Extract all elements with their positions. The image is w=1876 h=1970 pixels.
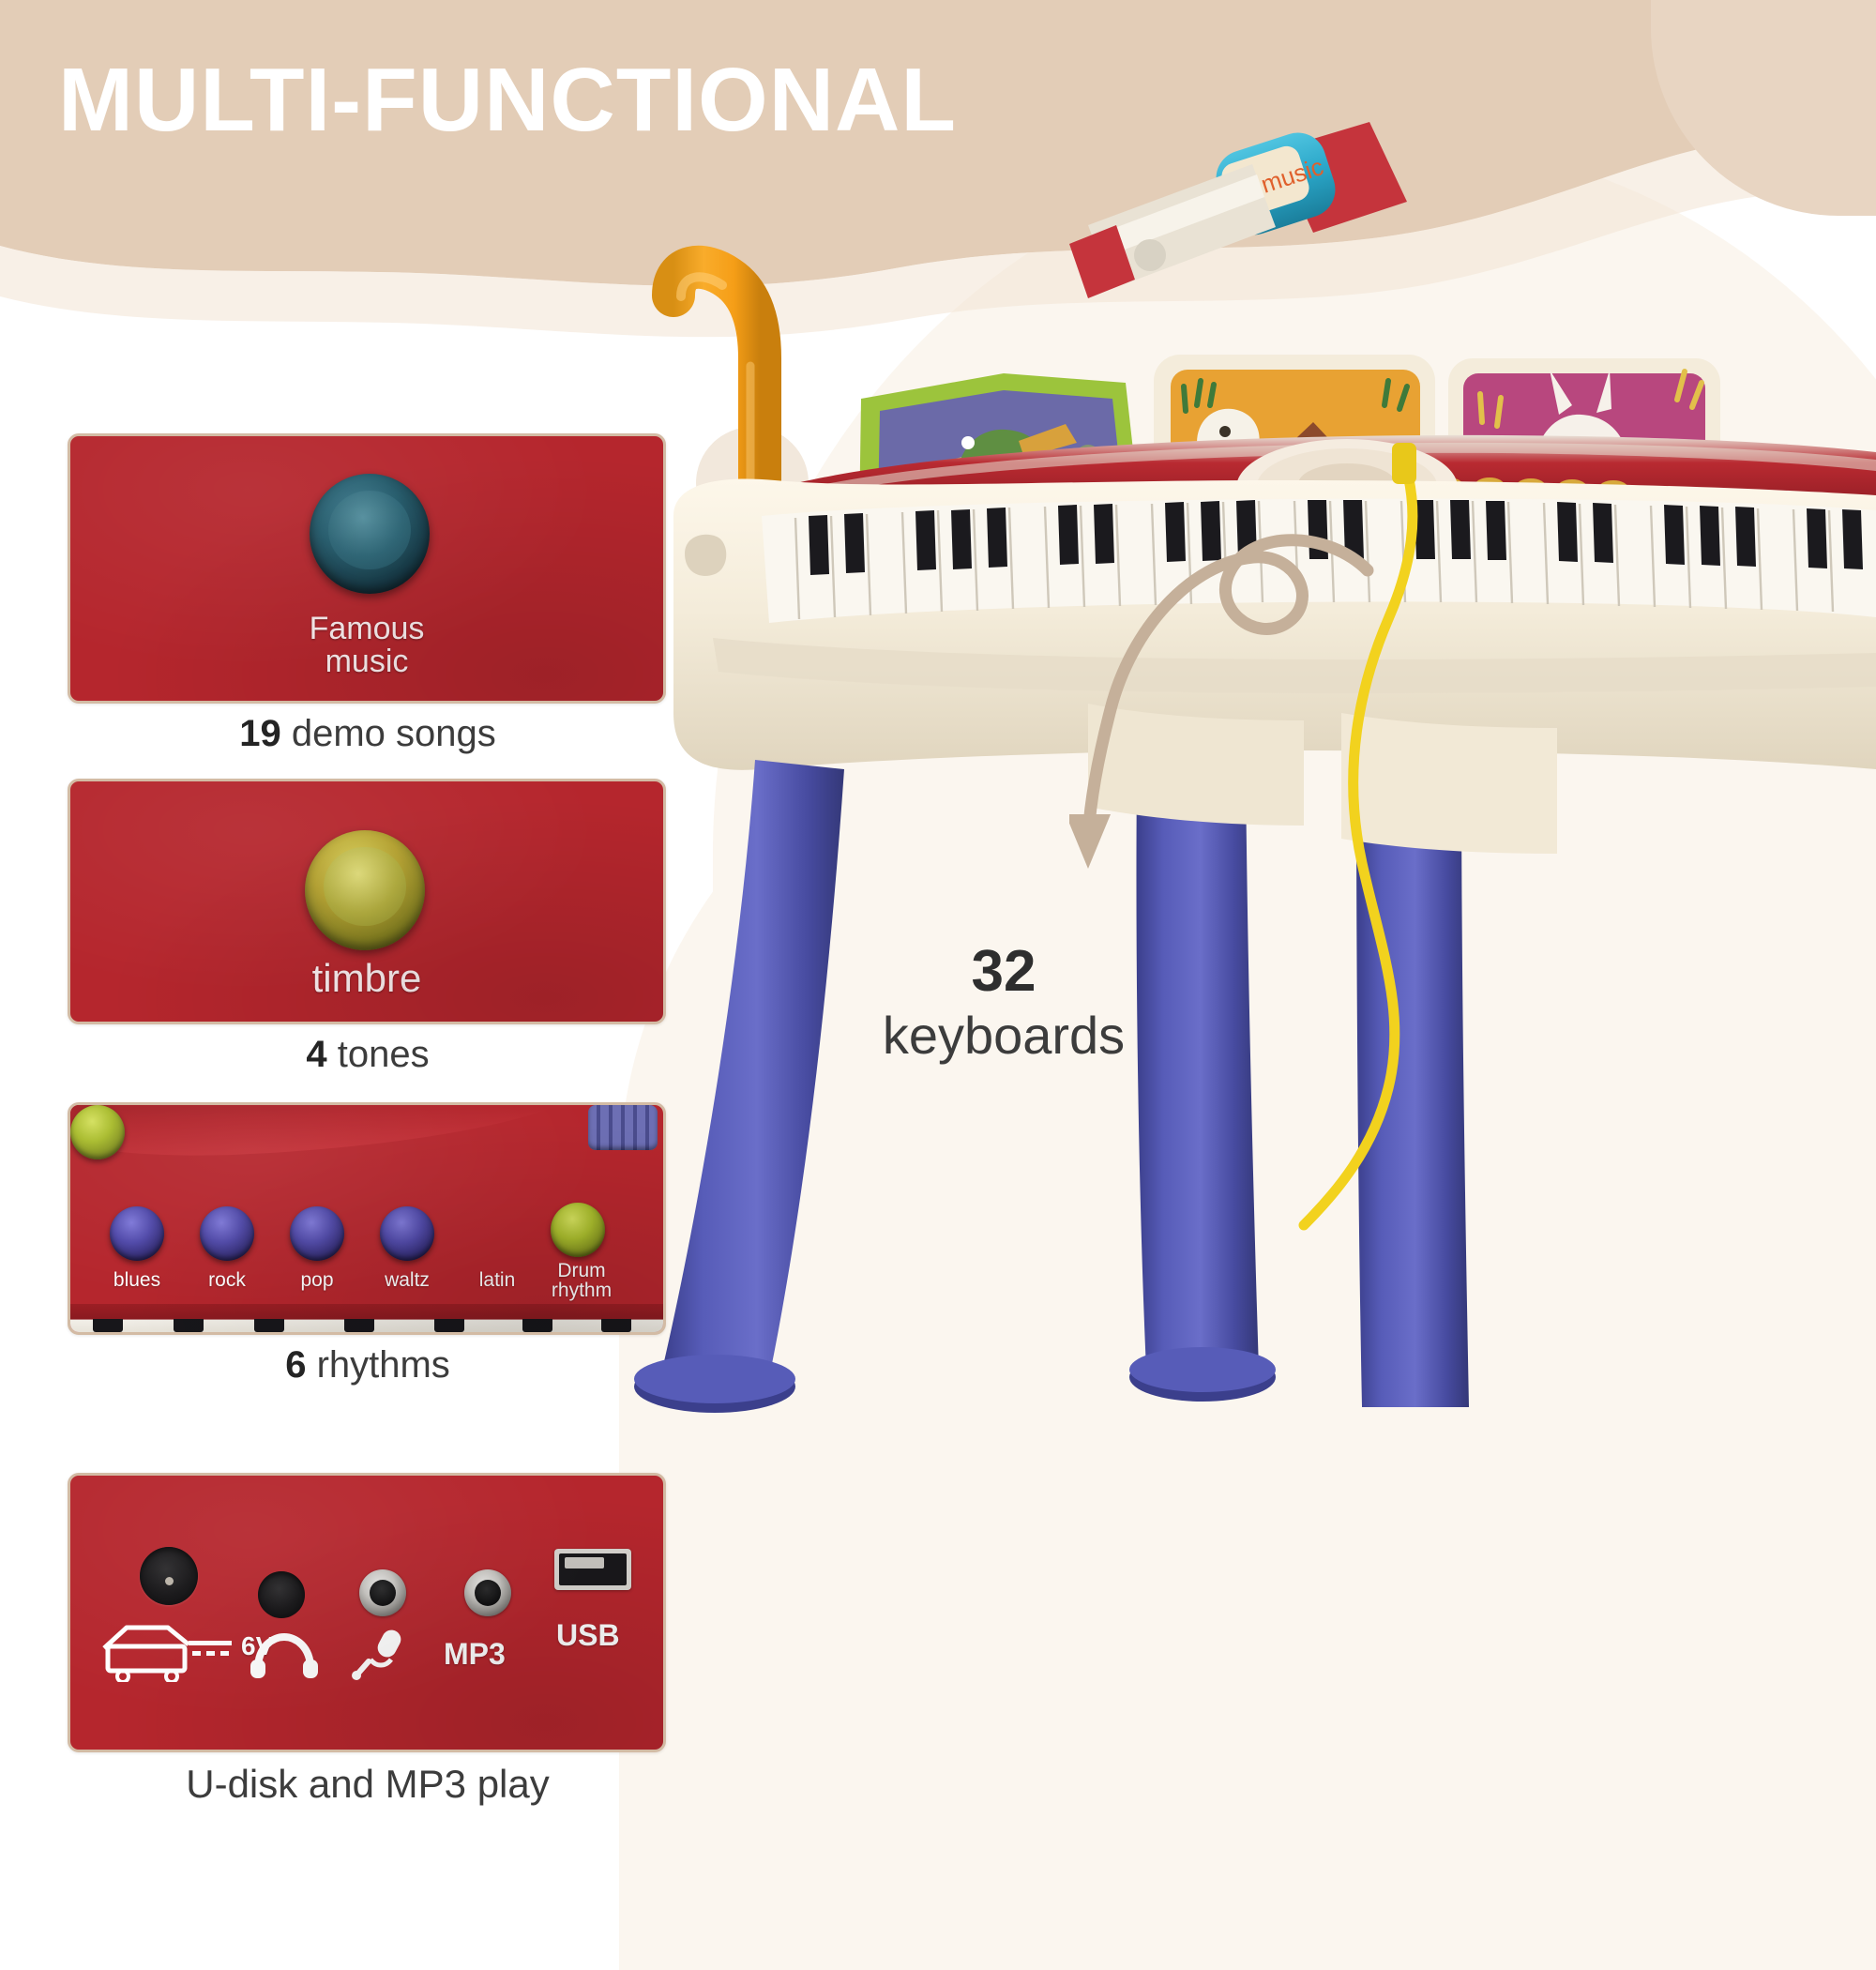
microphone-icon bbox=[348, 1628, 410, 1680]
famous-music-label-line1: Famous bbox=[70, 613, 663, 645]
microphone-jack-icon[interactable] bbox=[359, 1569, 406, 1616]
ports-caption: U-disk and MP3 play bbox=[68, 1762, 668, 1807]
rhythm-button-pop[interactable] bbox=[290, 1206, 344, 1261]
rhythms-count: 6 bbox=[285, 1344, 306, 1386]
headphone-icon bbox=[249, 1633, 320, 1678]
drum-label-line1: Drum bbox=[557, 1260, 605, 1281]
piano-keys-edge bbox=[70, 1304, 663, 1332]
timbre-knob-icon[interactable] bbox=[305, 830, 425, 950]
famous-music-caption: 19 demo songs bbox=[68, 713, 668, 755]
dc-power-jack-icon[interactable] bbox=[140, 1547, 198, 1605]
famous-music-button-label: Famous music bbox=[70, 613, 663, 679]
toy-microphone: music bbox=[1069, 122, 1407, 298]
drum-rhythm-pad-icon[interactable] bbox=[588, 1105, 658, 1150]
rhythm-label-pop: pop bbox=[271, 1270, 363, 1290]
rhythm-button-blues[interactable] bbox=[110, 1206, 164, 1261]
tones-text: tones bbox=[338, 1034, 430, 1075]
feature-rhythms: blues rock pop waltz latin Drum rhythm 6… bbox=[68, 1102, 668, 1387]
rhythm-label-latin: latin bbox=[451, 1270, 543, 1290]
page-title: MULTI-FUNCTIONAL bbox=[58, 49, 957, 152]
mp3-port-label: MP3 bbox=[444, 1637, 506, 1672]
rhythm-label-drum: Drum rhythm bbox=[532, 1261, 631, 1301]
mp3-jack-icon[interactable] bbox=[464, 1569, 511, 1616]
keyboards-callout: 32 keyboards bbox=[849, 943, 1158, 1065]
rhythms-panel: blues rock pop waltz latin Drum rhythm bbox=[68, 1102, 666, 1335]
keyboards-count: 32 bbox=[849, 943, 1158, 1001]
rhythms-text: rhythms bbox=[317, 1344, 450, 1386]
tones-count: 4 bbox=[306, 1034, 326, 1075]
keyboards-label: keyboards bbox=[849, 1007, 1158, 1065]
drum-label-line2: rhythm bbox=[552, 1280, 612, 1301]
dc-symbol-icon bbox=[187, 1637, 235, 1661]
panel-highlight-sheen bbox=[68, 1102, 588, 1164]
callout-arrow bbox=[1069, 525, 1388, 957]
feature-ports: 6V MP3 USB U-disk and MP3 pl bbox=[68, 1473, 668, 1807]
famous-music-label-line2: music bbox=[70, 645, 663, 678]
timbre-panel: timbre bbox=[68, 779, 666, 1024]
rhythm-label-rock: rock bbox=[181, 1270, 273, 1290]
usb-port-icon[interactable] bbox=[554, 1549, 631, 1590]
rhythm-label-waltz: waltz bbox=[361, 1270, 453, 1290]
feature-timbre: timbre 4 tones bbox=[68, 779, 668, 1076]
timbre-caption: 4 tones bbox=[68, 1034, 668, 1076]
rhythm-label-blues: blues bbox=[91, 1270, 183, 1290]
demo-songs-text: demo songs bbox=[292, 713, 496, 754]
headphone-jack-icon[interactable] bbox=[258, 1571, 305, 1618]
rhythms-caption: 6 rhythms bbox=[68, 1344, 668, 1387]
demo-songs-count: 19 bbox=[239, 713, 281, 754]
rhythm-button-rock[interactable] bbox=[200, 1206, 254, 1261]
famous-music-panel: Famous music bbox=[68, 433, 666, 704]
rhythm-button-latin[interactable] bbox=[70, 1105, 125, 1159]
timbre-button-label: timbre bbox=[70, 958, 663, 999]
feature-famous-music: Famous music 19 demo songs bbox=[68, 433, 668, 755]
ports-panel: 6V MP3 USB bbox=[68, 1473, 666, 1752]
rhythm-button-waltz[interactable] bbox=[380, 1206, 434, 1261]
rhythm-button-drum[interactable] bbox=[551, 1203, 605, 1257]
usb-port-label: USB bbox=[556, 1618, 620, 1653]
famous-music-knob-icon[interactable] bbox=[310, 474, 430, 594]
